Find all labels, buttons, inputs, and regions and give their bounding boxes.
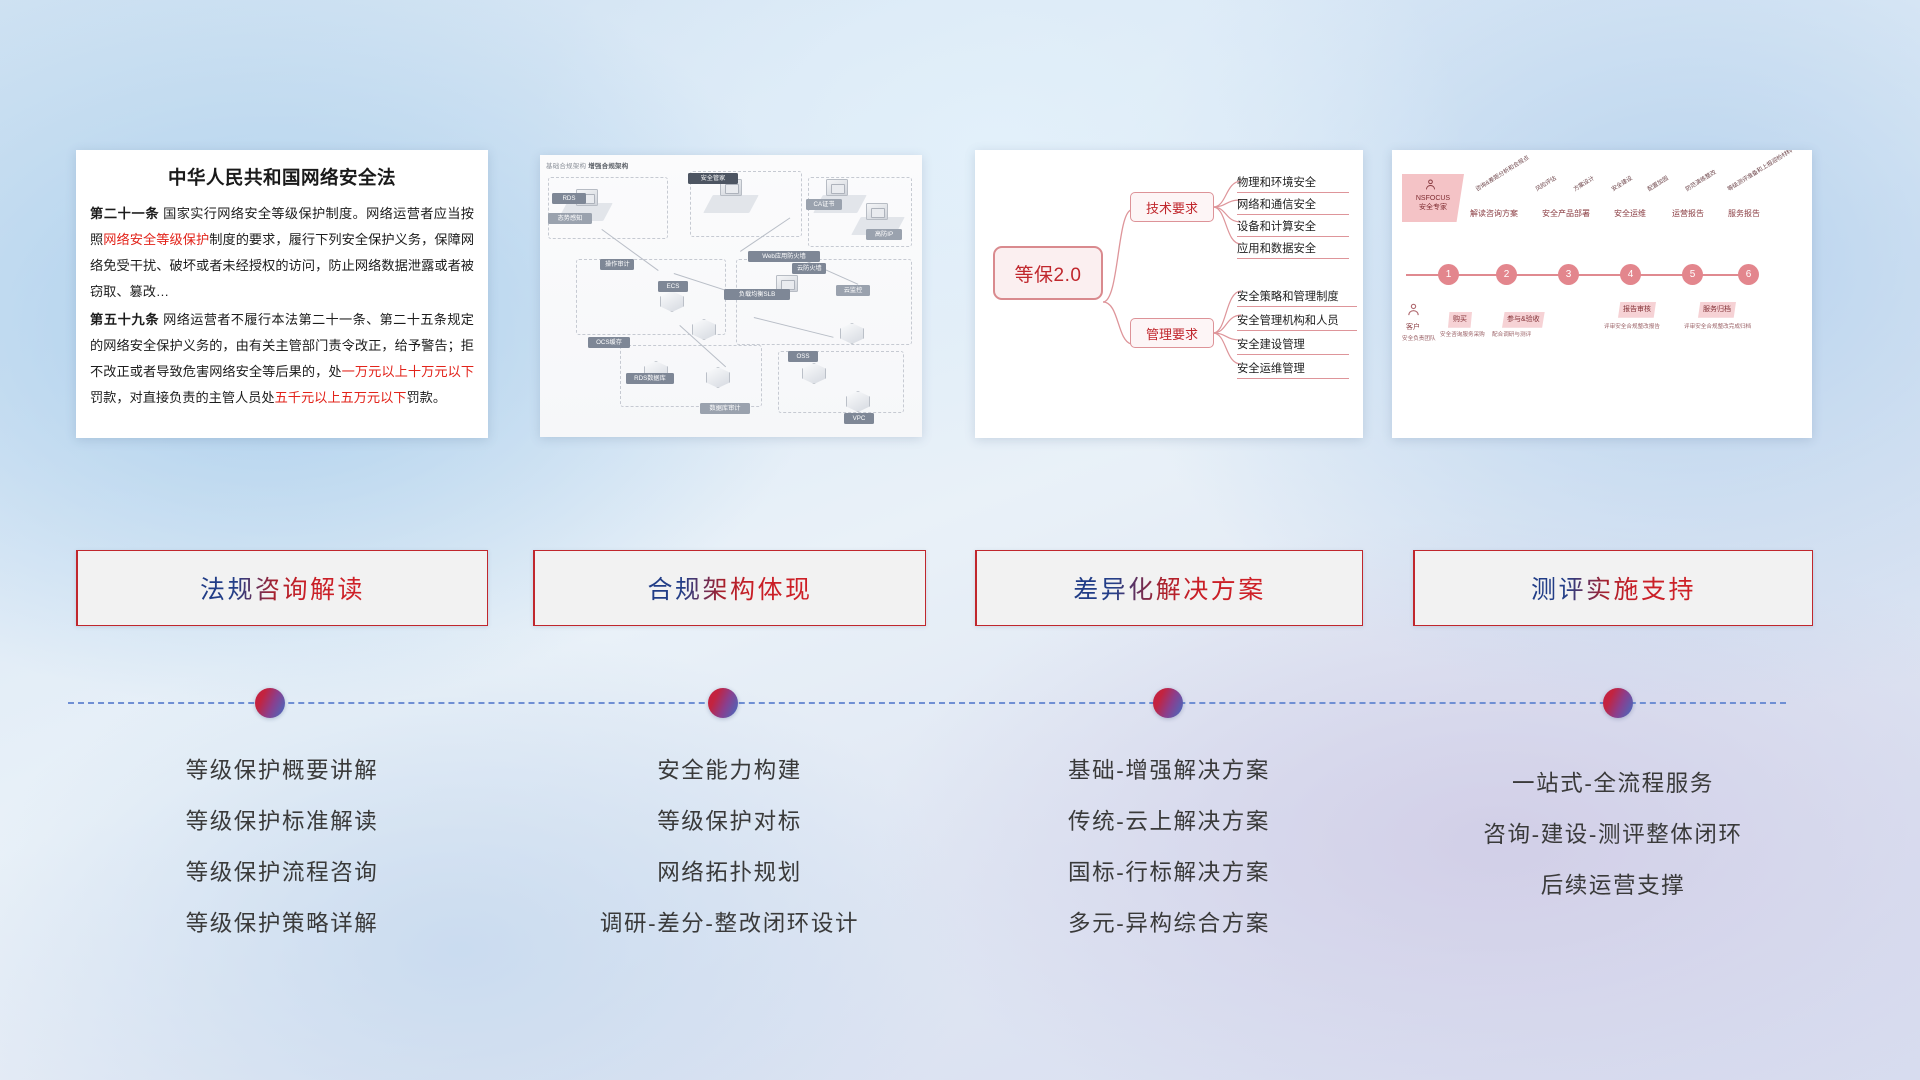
law-article-number: 第五十九条 bbox=[90, 312, 159, 327]
mindmap-branch-management: 管理要求 bbox=[1130, 318, 1214, 348]
roadmap-top-tag: 防范演练整改 bbox=[1683, 167, 1717, 193]
image-cards-row: 中华人民共和国网络安全法 第二十一条 国家实行网络安全等级保护制度。网络运营者应… bbox=[0, 150, 1920, 440]
roadmap-column-label: 服务报告 bbox=[1728, 208, 1760, 219]
mindmap-leaf: 应用和数据安全 bbox=[1237, 240, 1349, 259]
list-item: 调研-差分-整改闭环设计 bbox=[533, 898, 926, 949]
server-icon bbox=[866, 203, 888, 220]
chip-label: VPC bbox=[844, 413, 874, 424]
chip-label: OCS缓存 bbox=[588, 337, 630, 348]
roadmap-column-label: 安全运维 bbox=[1614, 208, 1646, 219]
roadmap-customer-sub: 安全负责团队 bbox=[1402, 334, 1436, 342]
column-4-list: 一站式-全流程服务 咨询-建设-测评整体闭环 后续运营支撑 bbox=[1413, 758, 1813, 911]
mindmap-leaf: 设备和计算安全 bbox=[1237, 218, 1349, 237]
timeline-dot-1[interactable] bbox=[255, 688, 285, 718]
roadmap-action: 购买 bbox=[1448, 312, 1472, 328]
law-paragraph-59: 第五十九条 网络运营者不履行本法第二十一条、第二十五条规定的网络安全保护义务的，… bbox=[90, 307, 474, 412]
chip-label: 云监控 bbox=[836, 285, 870, 296]
architecture-diagram: 基础合规架构 增强合规架构 bbox=[540, 155, 922, 437]
column-3-list: 基础-增强解决方案 传统-云上解决方案 国标-行标解决方案 多元-异构综合方案 bbox=[975, 745, 1363, 949]
roadmap-step: 6 bbox=[1738, 264, 1759, 285]
roadmap-action-sub: 安全咨询服务采购 bbox=[1440, 330, 1485, 338]
chip-label: RDS数据库 bbox=[626, 373, 674, 384]
roadmap-action-sub: 评审安全合规整改完成归档 bbox=[1684, 322, 1751, 330]
roadmap-step: 4 bbox=[1620, 264, 1641, 285]
list-item: 等级保护概要讲解 bbox=[76, 745, 488, 796]
roadmap-diagram: NSFOCUS 安全专家 咨询&差距分析和合规点 风险评估 方案设计 安全建设 … bbox=[1392, 150, 1812, 438]
chip-label: 安全管家 bbox=[688, 173, 738, 184]
list-item: 国标-行标解决方案 bbox=[975, 847, 1363, 898]
chip-label: 操作审计 bbox=[600, 259, 634, 270]
mindmap-root-node: 等保2.0 bbox=[993, 246, 1103, 300]
chip-label: Web应用防火墙 bbox=[748, 251, 820, 262]
timeline-dot-4[interactable] bbox=[1603, 688, 1633, 718]
architecture-header: 基础合规架构 增强合规架构 bbox=[546, 160, 628, 170]
law-document: 中华人民共和国网络安全法 第二十一条 国家实行网络安全等级保护制度。网络运营者应… bbox=[76, 150, 488, 418]
roadmap-top-tag: 等级测评准备和上报迎检材料 bbox=[1725, 150, 1794, 193]
roadmap-brand-name: NSFOCUS bbox=[1402, 194, 1464, 203]
timeline-dashed-line bbox=[68, 702, 1786, 704]
roadmap-action: 服务归档 bbox=[1698, 302, 1736, 318]
card-cybersecurity-law[interactable]: 中华人民共和国网络安全法 第二十一条 国家实行网络安全等级保护制度。网络运营者应… bbox=[76, 150, 488, 438]
roadmap-column-label: 解读咨询方案 bbox=[1470, 208, 1518, 219]
list-item: 等级保护流程咨询 bbox=[76, 847, 488, 898]
law-paragraph-21: 第二十一条 国家实行网络安全等级保护制度。网络运营者应当按照网络安全等级保护制度… bbox=[90, 201, 474, 306]
mindmap-leaf: 安全建设管理 bbox=[1237, 336, 1349, 355]
roadmap-brand-sub: 安全专家 bbox=[1402, 203, 1464, 212]
customer-person-icon bbox=[1406, 302, 1421, 317]
mindmap: 等保2.0 技术要求 管理要求 物理和环境安全 网络和通信安全 设备和计算安全 … bbox=[975, 150, 1363, 438]
roadmap-top-tag: 方案设计 bbox=[1571, 173, 1595, 193]
banner-compliance-architecture[interactable]: 合规架构体现 bbox=[533, 550, 926, 626]
law-title: 中华人民共和国网络安全法 bbox=[90, 164, 474, 190]
chip-label: OSS bbox=[788, 351, 818, 362]
list-item: 等级保护标准解读 bbox=[76, 796, 488, 847]
list-item: 网络拓扑规划 bbox=[533, 847, 926, 898]
chip-label: 数据库审计 bbox=[700, 403, 750, 414]
chip-label: 态势感知 bbox=[548, 213, 592, 224]
banner-label: 合规架构体现 bbox=[647, 570, 812, 606]
banner-evaluation-support[interactable]: 测评实施支持 bbox=[1413, 550, 1813, 626]
mindmap-leaf: 安全管理机构和人员 bbox=[1237, 312, 1357, 331]
mindmap-leaf: 网络和通信安全 bbox=[1237, 196, 1349, 215]
roadmap-top-tag: 风险评估 bbox=[1533, 173, 1557, 193]
roadmap-action: 报告审核 bbox=[1618, 302, 1656, 318]
law-run-highlight: 一万元以上十万元以下 bbox=[342, 364, 474, 379]
banner-label: 法规咨询解读 bbox=[200, 570, 365, 606]
column-1-list: 等级保护概要讲解 等级保护标准解读 等级保护流程咨询 等级保护策略详解 bbox=[76, 745, 488, 949]
list-item: 咨询-建设-测评整体闭环 bbox=[1413, 809, 1813, 860]
card-mindmap-dengbao[interactable]: 等保2.0 技术要求 管理要求 物理和环境安全 网络和通信安全 设备和计算安全 … bbox=[975, 150, 1363, 438]
mindmap-leaf: 物理和环境安全 bbox=[1237, 174, 1349, 193]
server-icon bbox=[826, 179, 848, 196]
list-item: 基础-增强解决方案 bbox=[975, 745, 1363, 796]
list-item: 后续运营支撑 bbox=[1413, 860, 1813, 911]
slide-root: 中华人民共和国网络安全法 第二十一条 国家实行网络安全等级保护制度。网络运营者应… bbox=[0, 0, 1920, 1080]
chip-label: CA证书 bbox=[806, 199, 842, 210]
roadmap-top-tag: 安全建设 bbox=[1609, 173, 1633, 193]
chip-label: 高防IP bbox=[866, 229, 902, 240]
timeline-dot-2[interactable] bbox=[708, 688, 738, 718]
chip-label: ECS bbox=[658, 281, 688, 292]
banner-differentiated-solution[interactable]: 差异化解决方案 bbox=[975, 550, 1363, 626]
roadmap-column-label: 运营报告 bbox=[1672, 208, 1704, 219]
mindmap-leaf: 安全策略和管理制度 bbox=[1237, 288, 1357, 307]
roadmap-top-tag: 咨询&差距分析和合规点 bbox=[1473, 153, 1530, 193]
architecture-plate bbox=[703, 195, 759, 213]
card-service-roadmap[interactable]: NSFOCUS 安全专家 咨询&差距分析和合规点 风险评估 方案设计 安全建设 … bbox=[1392, 150, 1812, 438]
banner-label: 差异化解决方案 bbox=[1073, 570, 1266, 606]
roadmap-brand-badge: NSFOCUS 安全专家 bbox=[1402, 174, 1464, 222]
law-run-highlight: 网络安全等级保护 bbox=[103, 232, 209, 247]
architecture-header-enhanced: 增强合规架构 bbox=[588, 163, 628, 170]
list-item: 等级保护对标 bbox=[533, 796, 926, 847]
roadmap-action-sub: 评审安全合规整改报告 bbox=[1604, 322, 1660, 330]
roadmap-customer-label: 客户 bbox=[1406, 322, 1420, 332]
roadmap-column-label: 安全产品部署 bbox=[1542, 208, 1590, 219]
roadmap-step: 2 bbox=[1496, 264, 1517, 285]
roadmap-top-tag: 配置加固 bbox=[1645, 173, 1669, 193]
roadmap-step: 5 bbox=[1682, 264, 1703, 285]
law-run: 罚款，对直接负责的主管人员处 bbox=[90, 390, 275, 405]
banner-label: 测评实施支持 bbox=[1531, 570, 1696, 606]
chip-label: 云防火墙 bbox=[792, 263, 826, 274]
card-cloud-architecture[interactable]: 基础合规架构 增强合规架构 bbox=[540, 155, 922, 437]
law-article-number: 第二十一条 bbox=[90, 206, 159, 221]
column-2-list: 安全能力构建 等级保护对标 网络拓扑规划 调研-差分-整改闭环设计 bbox=[533, 745, 926, 949]
architecture-header-basic: 基础合规架构 bbox=[546, 163, 586, 170]
chip-label: RDS bbox=[552, 193, 586, 204]
chip-label: 负载均衡SLB bbox=[724, 289, 790, 300]
roadmap-action: 参与&验收 bbox=[1502, 312, 1545, 328]
expert-person-icon bbox=[1424, 178, 1437, 191]
list-item: 安全能力构建 bbox=[533, 745, 926, 796]
timeline-dot-3[interactable] bbox=[1153, 688, 1183, 718]
list-item: 一站式-全流程服务 bbox=[1413, 758, 1813, 809]
list-item: 传统-云上解决方案 bbox=[975, 796, 1363, 847]
law-run: 罚款。 bbox=[407, 390, 447, 405]
list-item: 多元-异构综合方案 bbox=[975, 898, 1363, 949]
roadmap-action-sub: 配合调研与测评 bbox=[1492, 330, 1531, 338]
mindmap-branch-technical: 技术要求 bbox=[1130, 192, 1214, 222]
roadmap-step: 1 bbox=[1438, 264, 1459, 285]
law-run-highlight: 五千元以上五万元以下 bbox=[275, 390, 407, 405]
list-item: 等级保护策略详解 bbox=[76, 898, 488, 949]
roadmap-step: 3 bbox=[1558, 264, 1579, 285]
mindmap-leaf: 安全运维管理 bbox=[1237, 360, 1349, 379]
banner-regulation-consulting[interactable]: 法规咨询解读 bbox=[76, 550, 488, 626]
